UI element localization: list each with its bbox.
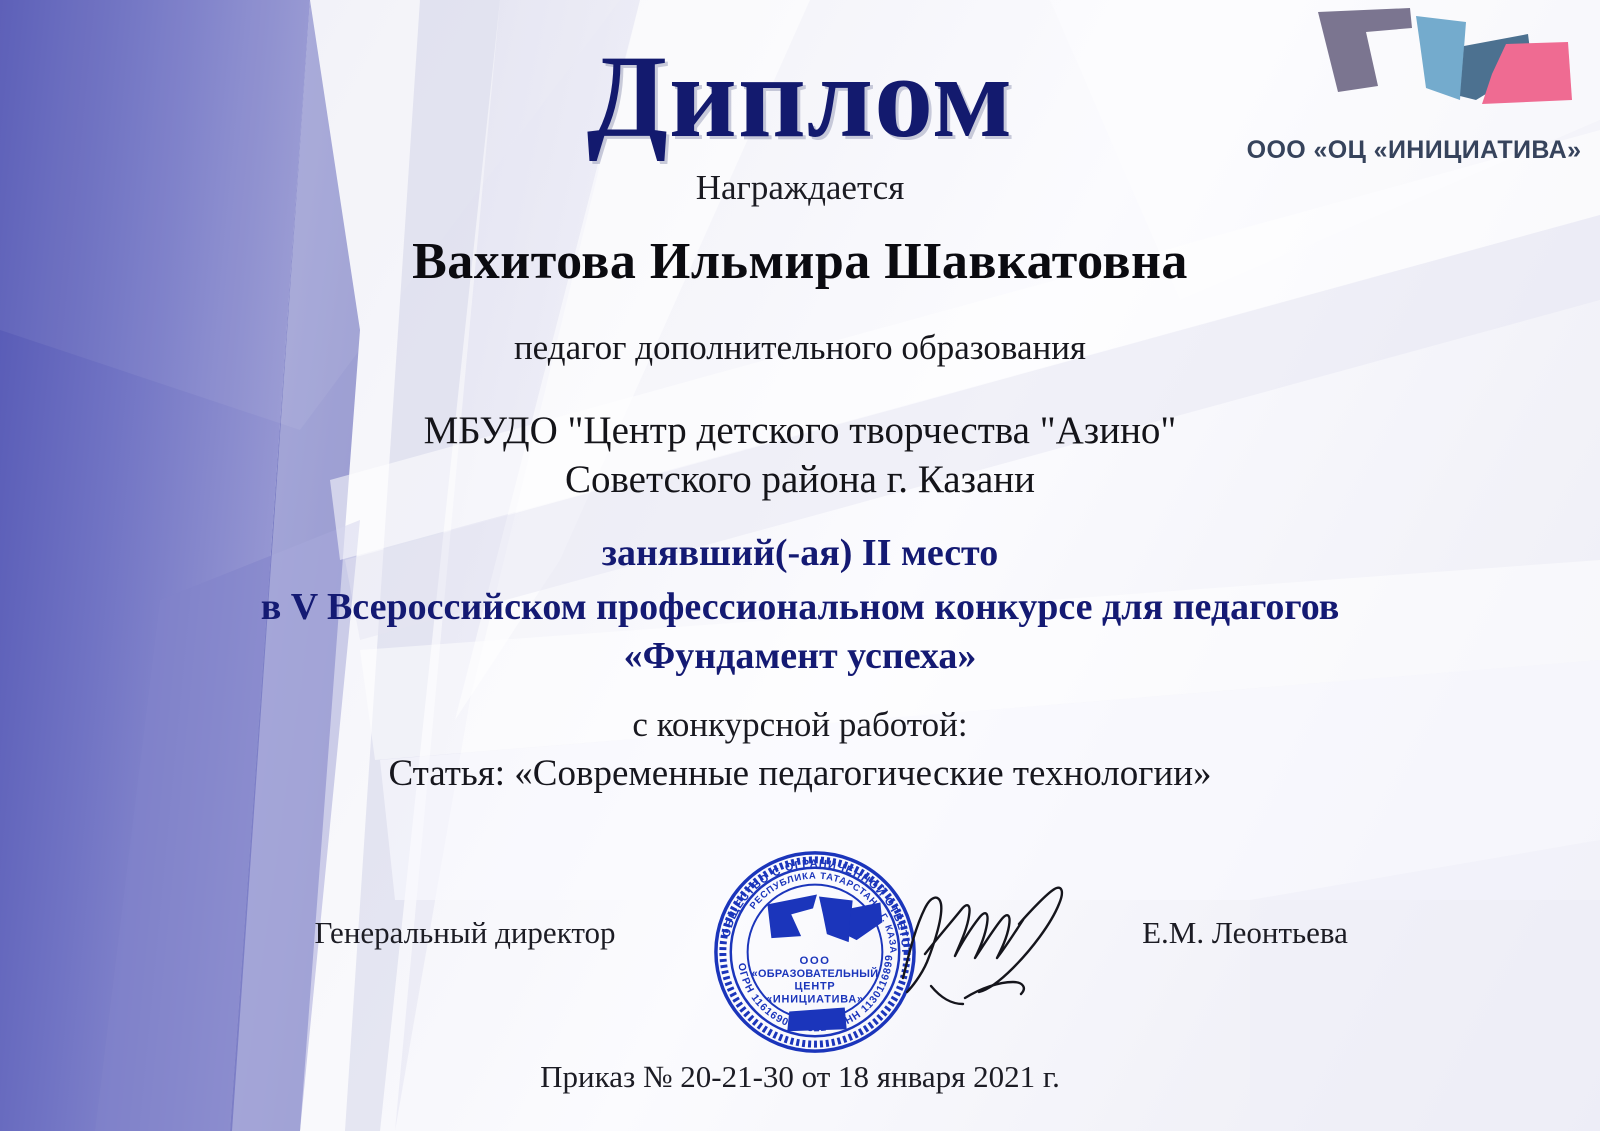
director-name: Е.М. Леонтьева [1035,915,1455,951]
svg-text:ЦЕНТР: ЦЕНТР [795,981,836,993]
awarded-label: Награждается [170,168,1430,208]
recipient-role: педагог дополнительного образования [170,328,1430,368]
diploma-certificate: ООО «ОЦ «ИНИЦИАТИВА» Диплом Награждается… [0,0,1600,1131]
svg-text:«ИНИЦИАТИВА»: «ИНИЦИАТИВА» [766,994,864,1006]
recipient-name: Вахитова Ильмира Шавкатовна [170,232,1430,291]
official-seal: ОБЩЕСТВО С ОГРАНИЧЕННОЙ ОТВЕТСТВЕННОСТЬЮ… [706,843,924,1057]
award-place: занявший(-ая) II место [170,531,1430,575]
order-number: Приказ № 20-21-30 от 18 января 2021 г. [170,1059,1430,1095]
contest-name: «Фундамент успеха» [170,634,1430,678]
svg-text:ООО: ООО [799,955,830,967]
organization-line-2: Советского района г. Казани [170,457,1430,502]
organization-line-1: МБУДО "Центр детского творчества "Азино" [170,408,1430,453]
work-label: с конкурсной работой: [170,705,1430,745]
work-title: Статья: «Современные педагогические техн… [170,752,1430,795]
svg-text:«ОБРАЗОВАТЕЛЬНЫЙ: «ОБРАЗОВАТЕЛЬНЫЙ [752,967,879,980]
director-title: Генеральный директор [230,915,700,951]
official-round-stamp-icon: ОБЩЕСТВО С ОГРАНИЧЕННОЙ ОТВЕТСТВЕННОСТЬЮ… [706,843,924,1057]
page-title: Диплом [170,38,1430,156]
contest-line: в V Всероссийском профессиональном конку… [170,585,1430,629]
